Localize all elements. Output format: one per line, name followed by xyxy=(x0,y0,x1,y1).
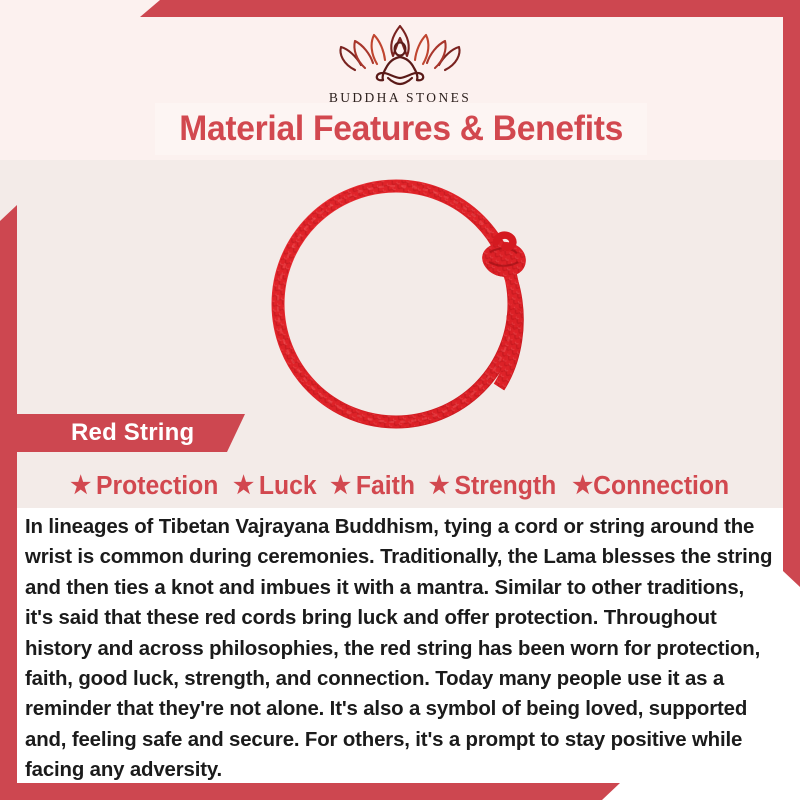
benefit-label: Strength xyxy=(455,472,557,501)
star-icon: ★ xyxy=(70,474,91,498)
title-banner: Material Features & Benefits xyxy=(155,103,647,155)
infographic-page: BUDDHA STONES Material Features & Benefi… xyxy=(0,0,800,800)
benefit-label: Faith xyxy=(355,472,414,501)
benefit-item-connection: ★ Connection xyxy=(561,472,730,501)
red-top-banner-decoration xyxy=(140,0,800,17)
benefit-item-faith: ★ Faith xyxy=(319,472,414,501)
benefit-item-protection: ★ Protection xyxy=(70,472,218,501)
lotus-meditation-logo-icon xyxy=(325,18,475,88)
benefit-label: Protection xyxy=(96,472,218,501)
material-name-label: Red String xyxy=(17,419,194,447)
star-icon: ★ xyxy=(573,474,594,498)
benefit-label: Luck xyxy=(258,472,316,501)
description-paragraph: In lineages of Tibetan Vajrayana Buddhis… xyxy=(25,512,777,786)
star-icon: ★ xyxy=(233,474,254,498)
benefit-item-strength: ★ Strength xyxy=(418,472,556,501)
product-image xyxy=(244,168,574,433)
red-left-strip-decoration xyxy=(0,205,17,800)
star-icon: ★ xyxy=(429,474,450,498)
benefits-list: ★ Protection ★ Luck ★ Faith ★ Strength ★… xyxy=(20,467,780,505)
benefit-item-luck: ★ Luck xyxy=(222,472,316,501)
page-title: Material Features & Benefits xyxy=(179,109,623,149)
star-icon: ★ xyxy=(330,474,351,498)
red-string-bracelet-illustration xyxy=(244,168,574,433)
benefit-label: Connection xyxy=(593,472,729,501)
material-name-ribbon: Red String xyxy=(17,414,245,452)
brand-logo: BUDDHA STONES xyxy=(0,18,800,106)
